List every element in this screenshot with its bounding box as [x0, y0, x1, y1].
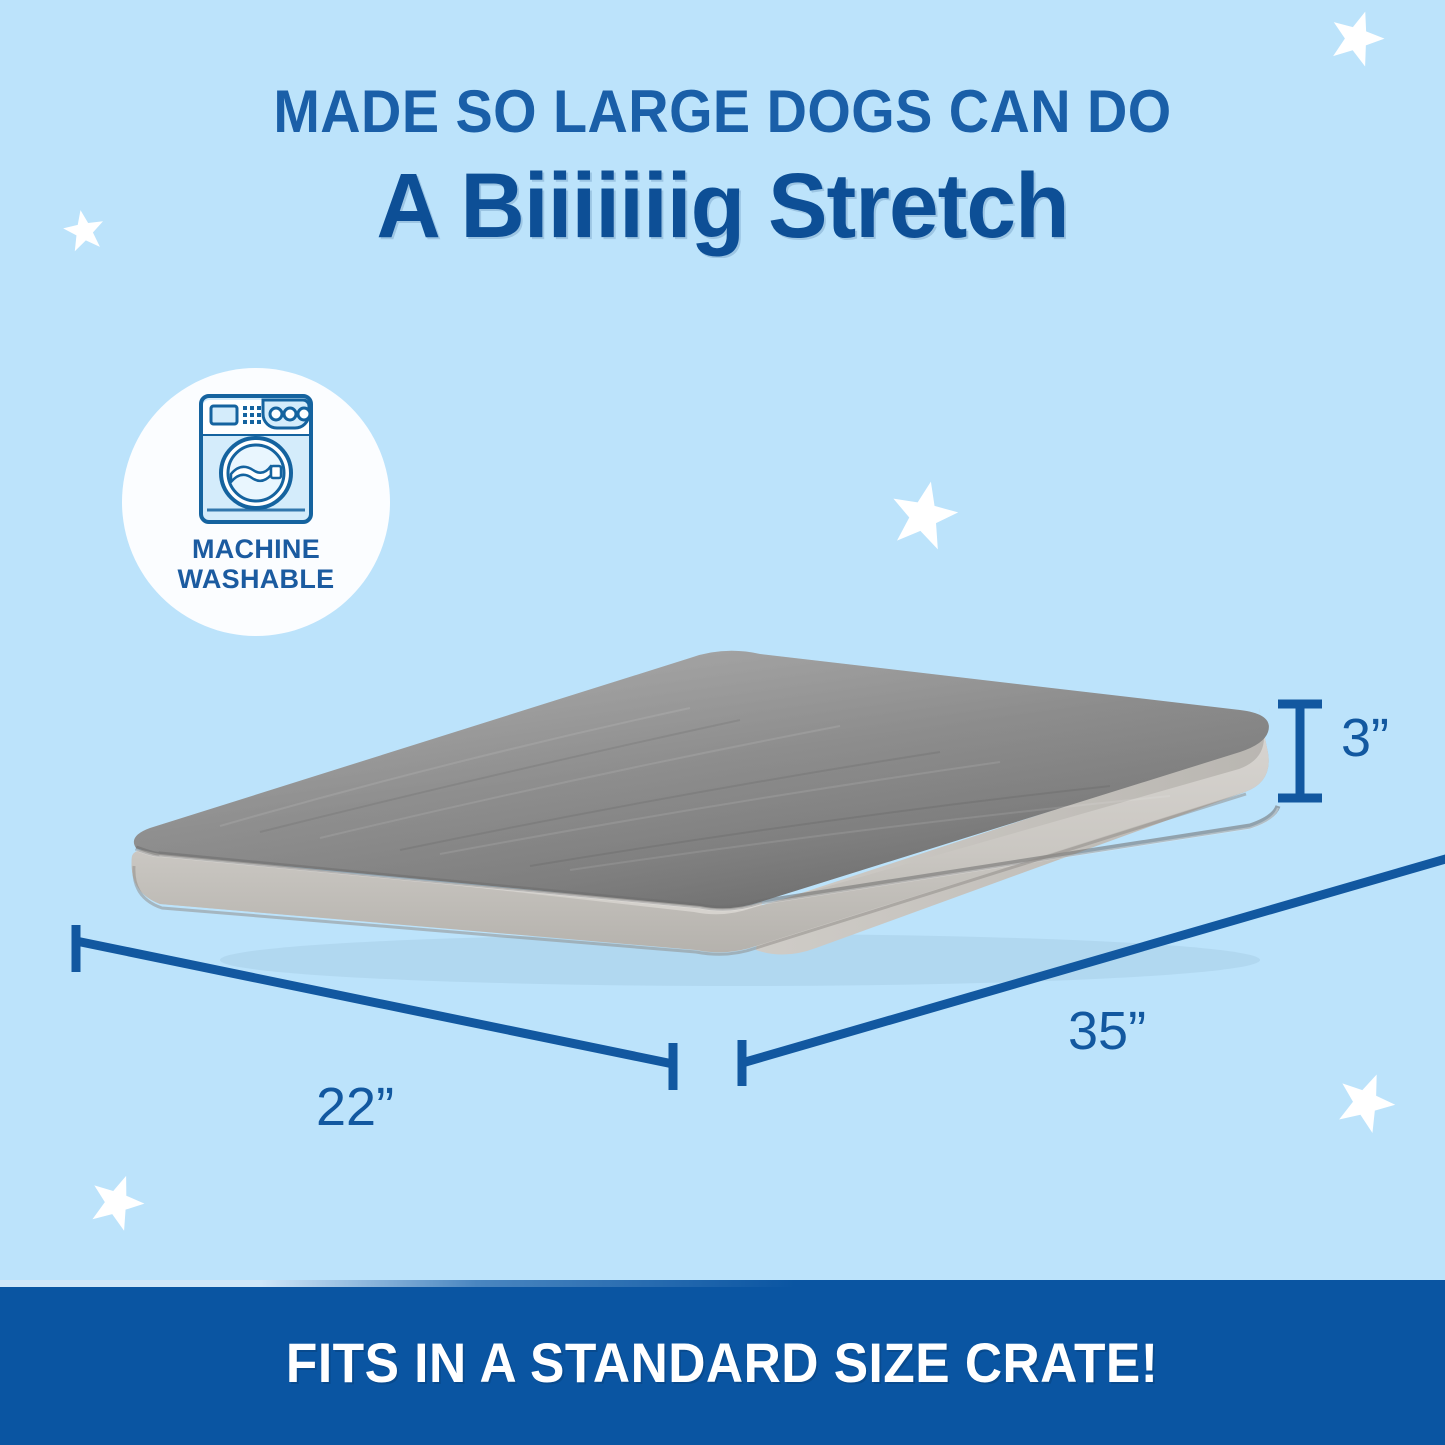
- machine-washable-badge: MACHINE WASHABLE: [122, 368, 390, 636]
- dimension-label-width: 22”: [316, 1076, 394, 1138]
- product-image: [100, 630, 1290, 1030]
- dimension-label-height: 3”: [1341, 707, 1389, 769]
- headline-line-1: MADE SO LARGE DOGS CAN DO: [51, 82, 1395, 142]
- star-bottom-right: [1326, 1061, 1407, 1142]
- star-middle: [881, 471, 966, 556]
- star-top-right: [1320, 0, 1393, 73]
- banner-text: FITS IN A STANDARD SIZE CRATE!: [286, 1330, 1158, 1395]
- banner-top-edge: [0, 1280, 1445, 1287]
- badge-text-line-1: MACHINE: [178, 534, 335, 564]
- bottom-banner: FITS IN A STANDARD SIZE CRATE!: [0, 1280, 1445, 1445]
- badge-text-line-2: WASHABLE: [178, 564, 335, 594]
- dimension-label-length: 35”: [1068, 1000, 1146, 1062]
- washing-machine-icon: [193, 390, 319, 528]
- headline-block: MADE SO LARGE DOGS CAN DO A Biiiiiiig St…: [0, 82, 1445, 252]
- badge-text: MACHINE WASHABLE: [178, 534, 335, 594]
- product-infographic: MADE SO LARGE DOGS CAN DO A Biiiiiiig St…: [0, 0, 1445, 1445]
- star-bottom-left: [80, 1164, 154, 1238]
- headline-line-2: A Biiiiiiig Stretch: [22, 160, 1424, 252]
